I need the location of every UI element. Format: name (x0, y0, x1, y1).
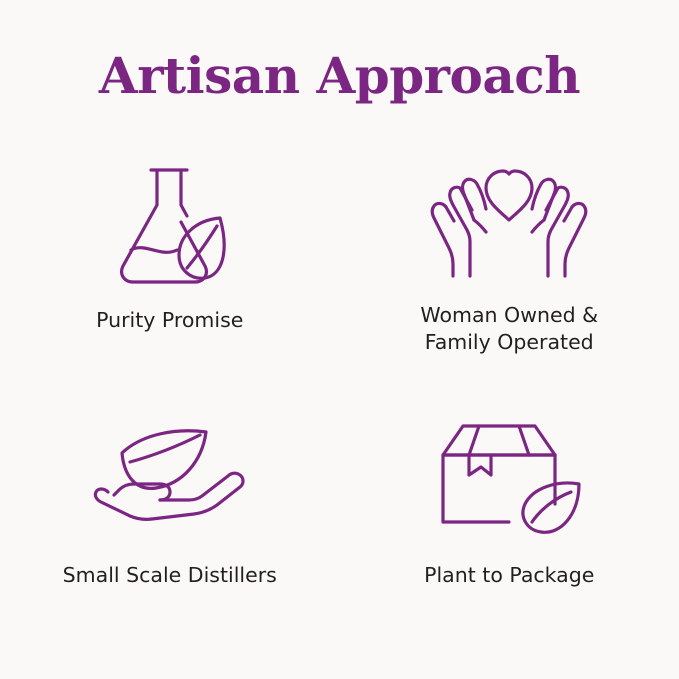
feature-caption: Plant to Package (424, 562, 594, 589)
feature-caption: Woman Owned & Family Operated (420, 302, 598, 356)
feature-item-purity-promise: Purity Promise (0, 150, 340, 400)
page-title: Artisan Approach (0, 46, 679, 105)
feature-item-small-scale-distillers: Small Scale Distillers (0, 400, 340, 650)
hand-holding-leaf-icon (90, 400, 250, 560)
feature-caption: Small Scale Distillers (63, 562, 277, 589)
feature-item-woman-owned: Woman Owned & Family Operated (340, 150, 679, 400)
artisan-approach-panel: Artisan Approach Purity Promise (0, 0, 679, 679)
feature-item-plant-to-package: Plant to Package (340, 400, 679, 650)
box-with-leaf-icon (429, 400, 589, 560)
feature-caption: Purity Promise (96, 307, 243, 334)
feature-grid: Purity Promise (0, 150, 679, 650)
hands-holding-heart-icon (424, 150, 594, 300)
flask-with-leaf-icon (95, 150, 245, 305)
